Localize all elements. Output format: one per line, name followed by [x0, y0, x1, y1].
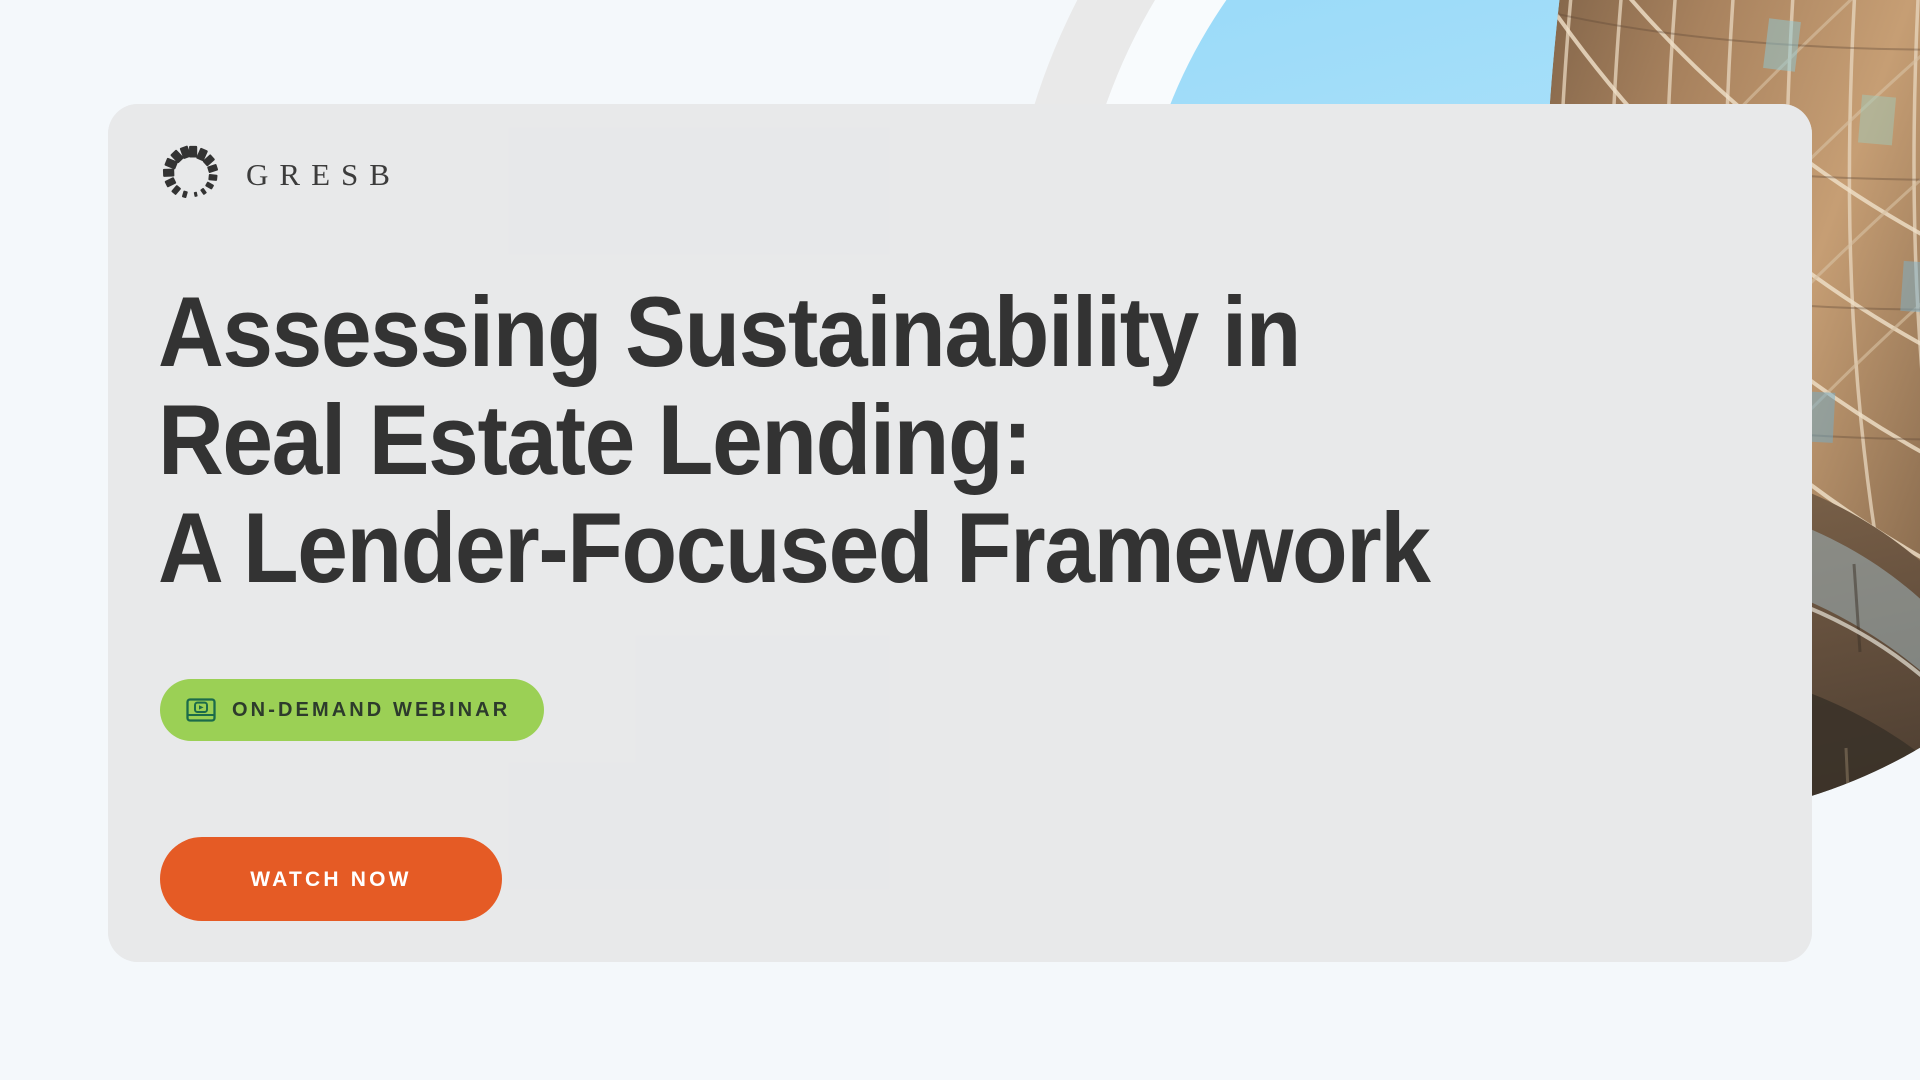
gresb-circular-dash-logo [160, 143, 222, 205]
promo-banner: GRESB Assessing Sustainability in Real E… [0, 0, 1920, 1080]
watch-now-label: WATCH NOW [250, 869, 411, 890]
badge-label: ON-DEMAND WEBINAR [232, 700, 510, 720]
status-badge: ON-DEMAND WEBINAR [160, 679, 544, 741]
watch-now-button[interactable]: WATCH NOW [160, 837, 502, 921]
headline-line-1: Assessing Sustainability in [158, 278, 1520, 386]
webinar-video-icon [186, 698, 216, 722]
headline-line-3: A Lender-Focused Framework [158, 494, 1520, 602]
gresb-logo[interactable]: GRESB [160, 143, 401, 205]
headline-line-2: Real Estate Lending: [158, 386, 1520, 494]
page-title: Assessing Sustainability in Real Estate … [158, 278, 1520, 602]
gresb-wordmark: GRESB [244, 159, 401, 190]
